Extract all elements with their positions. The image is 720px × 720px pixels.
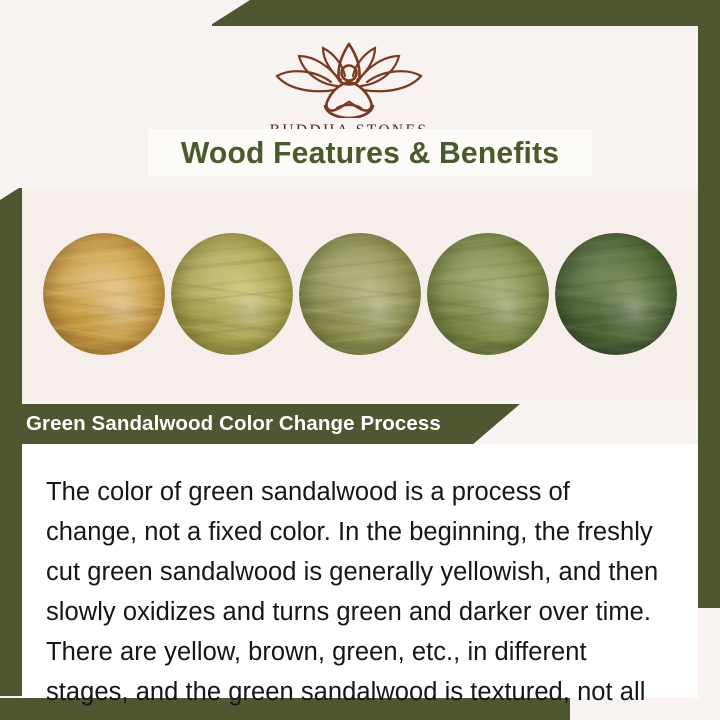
infographic-canvas: BUDDHA STONES Wood Features & Benefits G… <box>0 0 720 720</box>
body-paragraph: The color of green sandalwood is a proce… <box>46 472 668 720</box>
page-title: Wood Features & Benefits <box>181 135 559 171</box>
olive-sandalwood-bead <box>299 233 421 355</box>
dark-green-sandalwood-bead <box>555 233 677 355</box>
section-banner-label: Green Sandalwood Color Change Process <box>26 412 441 436</box>
section-banner: Green Sandalwood Color Change Process <box>0 404 520 444</box>
bead-sphere-shading <box>43 233 165 355</box>
lotus-meditation-icon <box>265 40 433 118</box>
page-title-band: Wood Features & Benefits <box>148 129 592 176</box>
bead-sphere-shading <box>555 233 677 355</box>
brand-logo-block: BUDDHA STONES <box>0 40 698 140</box>
green-sandalwood-bead <box>427 233 549 355</box>
bead-sphere-shading <box>299 233 421 355</box>
yellow-green-sandalwood-bead <box>171 233 293 355</box>
bead-row <box>22 188 698 400</box>
frame-cream-top-left <box>0 0 212 26</box>
body-panel: The color of green sandalwood is a proce… <box>22 444 698 698</box>
color-swatch-strip <box>22 188 698 400</box>
frame-cream-diagonal-notch <box>206 0 250 28</box>
golden-yellow-sandalwood-bead <box>43 233 165 355</box>
bead-sphere-shading <box>171 233 293 355</box>
bead-sphere-shading <box>427 233 549 355</box>
